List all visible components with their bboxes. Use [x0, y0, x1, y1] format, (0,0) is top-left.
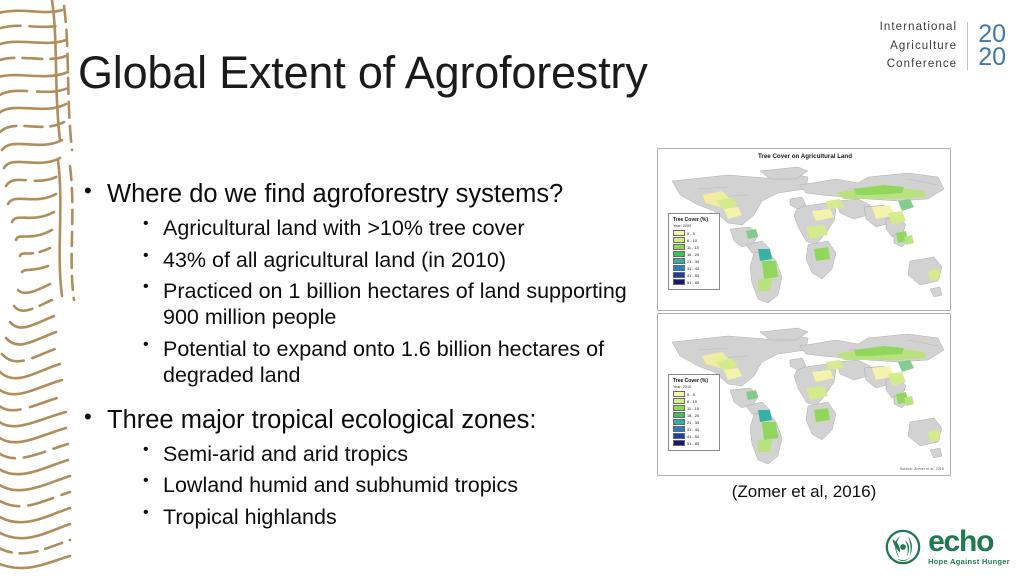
legend-label: 21 - 30 [687, 259, 699, 264]
legend-row: 41 - 50 [673, 272, 716, 278]
bullet-item: 43% of all agricultural land (in 2010) [137, 247, 642, 273]
legend-swatch [673, 265, 685, 271]
legend-label: 6 - 10 [687, 238, 697, 243]
bullet-text: Three major tropical ecological zones: [107, 404, 642, 436]
legend-year: Year: 2010 [673, 385, 716, 389]
conference-year: 20 20 [978, 23, 1006, 70]
legend-swatch [673, 426, 685, 432]
legend-swatch [673, 237, 685, 243]
bullet-list-level1: Where do we find agroforestry systems? A… [82, 178, 642, 530]
map-legend-2000: Tree Cover (%) Year: 2000 0 - 5 6 - 10 1… [668, 213, 720, 290]
slide-canvas: International Agriculture Conference 20 … [0, 0, 1024, 576]
bullet-spacer [82, 391, 642, 404]
legend-year: Year: 2000 [673, 224, 716, 228]
conference-name: International Agriculture Conference [880, 18, 958, 74]
legend-swatch [673, 433, 685, 439]
sub-bullet-group: Agricultural land with >10% tree cover 4… [137, 215, 642, 389]
echo-wordmark: echo Hope Against Hunger [928, 528, 1010, 566]
legend-row: 21 - 30 [673, 258, 716, 264]
legend-swatch [673, 398, 685, 404]
legend-row: 41 - 50 [673, 433, 716, 439]
legend-row: 0 - 5 [673, 230, 716, 236]
legend-label: 0 - 5 [687, 231, 695, 236]
decorative-contour-band [0, 0, 80, 576]
legend-row: 21 - 30 [673, 419, 716, 425]
legend-row: 51 - 80 [673, 440, 716, 446]
logo-divider [967, 22, 968, 70]
bullet-item: Agricultural land with >10% tree cover [137, 215, 642, 241]
legend-label: 16 - 20 [687, 252, 699, 257]
conference-line-1: International [880, 18, 958, 37]
legend-row: 51 - 80 [673, 279, 716, 285]
legend-swatch [673, 405, 685, 411]
echo-logo: echo Hope Against Hunger [884, 528, 1010, 566]
map-title-text: Tree Cover on Agricultural Land [758, 153, 852, 160]
bullet-item: Lowland humid and subhumid tropics [137, 472, 642, 498]
legend-label: 11 - 15 [687, 245, 699, 250]
sub-bullet-group: Semi-arid and arid tropics Lowland humid… [137, 441, 642, 530]
bullet-item: Semi-arid and arid tropics [137, 441, 642, 467]
contour-pattern-icon [0, 0, 80, 576]
legend-label: 21 - 30 [687, 420, 699, 425]
map-source-attribution: Source: Zomer et al, 2016 [900, 467, 944, 471]
map-legend-2010: Tree Cover (%) Year: 2010 0 - 5 6 - 10 1… [668, 374, 720, 451]
legend-row: 16 - 20 [673, 412, 716, 418]
legend-label: 11 - 15 [687, 406, 699, 411]
legend-label: 51 - 80 [687, 280, 699, 285]
legend-swatch [673, 251, 685, 257]
bullet-item: Where do we find agroforestry systems? A… [82, 178, 642, 389]
legend-row: 31 - 40 [673, 265, 716, 271]
legend-label: 51 - 80 [687, 441, 699, 446]
legend-swatch [673, 412, 685, 418]
bullet-item: Tropical highlands [137, 504, 642, 530]
bullet-text: Where do we find agroforestry systems? [107, 178, 642, 210]
legend-row: 31 - 40 [673, 426, 716, 432]
legend-row: 6 - 10 [673, 237, 716, 243]
echo-tagline: Hope Against Hunger [928, 557, 1010, 566]
legend-label: 31 - 40 [687, 427, 699, 432]
echo-brand-name: echo [928, 528, 993, 556]
legend-row: 16 - 20 [673, 251, 716, 257]
legend-title: Tree Cover (%) [673, 217, 716, 223]
legend-swatch [673, 244, 685, 250]
legend-label: 6 - 10 [687, 399, 697, 404]
bullet-item: Practiced on 1 billion hectares of land … [137, 278, 642, 331]
legend-row: 6 - 10 [673, 398, 716, 404]
bullet-item: Three major tropical ecological zones: S… [82, 404, 642, 530]
legend-swatch [673, 391, 685, 397]
map-card-2000: Tree Cover on Agricultural Land Tree Cov… [657, 148, 951, 311]
legend-title: Tree Cover (%) [673, 378, 716, 384]
legend-swatch [673, 419, 685, 425]
legend-swatch [673, 272, 685, 278]
legend-label: 41 - 50 [687, 273, 699, 278]
map-card-2010: Tree Cover (%) Year: 2010 0 - 5 6 - 10 1… [657, 313, 951, 476]
legend-label: 0 - 5 [687, 392, 695, 397]
figure-caption: (Zomer et al, 2016) [657, 482, 951, 502]
page-title: Global Extent of Agroforestry [78, 48, 648, 98]
bullet-item: Potential to expand onto 1.6 billion hec… [137, 336, 642, 389]
echo-globe-leaf-icon [884, 528, 922, 566]
bullet-content: Where do we find agroforestry systems? A… [82, 178, 642, 532]
legend-swatch [673, 440, 685, 446]
legend-swatch [673, 279, 685, 285]
legend-label: 41 - 50 [687, 434, 699, 439]
bullet-list-level2: Semi-arid and arid tropics Lowland humid… [137, 441, 642, 530]
legend-label: 31 - 40 [687, 266, 699, 271]
legend-row: 0 - 5 [673, 391, 716, 397]
legend-row: 11 - 15 [673, 405, 716, 411]
bullet-list-level2: Agricultural land with >10% tree cover 4… [137, 215, 642, 389]
conference-line-3: Conference [880, 55, 958, 74]
conference-logo: International Agriculture Conference 20 … [880, 18, 1006, 74]
legend-label: 16 - 20 [687, 413, 699, 418]
conference-line-2: Agriculture [880, 37, 958, 56]
figure-tree-cover-maps: Tree Cover on Agricultural Land Tree Cov… [657, 148, 951, 478]
legend-swatch [673, 258, 685, 264]
year-bottom: 20 [978, 46, 1006, 69]
legend-row: 11 - 15 [673, 244, 716, 250]
legend-swatch [673, 230, 685, 236]
